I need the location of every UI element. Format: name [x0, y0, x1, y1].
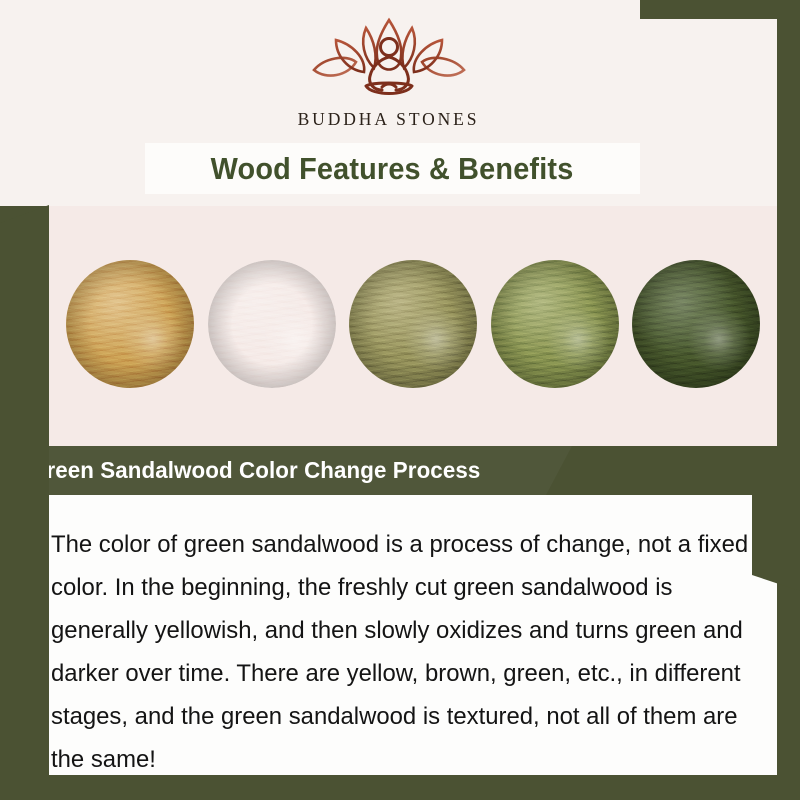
section-title: Green Sandalwood Color Change Process	[29, 457, 480, 484]
frame-bottom-bar	[0, 775, 800, 800]
section-header-banner: Green Sandalwood Color Change Process	[0, 446, 572, 495]
body-paragraph: The color of green sandalwood is a proce…	[51, 523, 753, 781]
frame-right-tab	[752, 495, 800, 591]
bead-shading	[208, 260, 336, 388]
bead-row	[49, 206, 777, 446]
page-title-banner: Wood Features & Benefits	[145, 143, 640, 194]
wood-bead-stage-4	[491, 260, 619, 388]
bead-shading	[491, 260, 619, 388]
lotus-meditation-figure-icon	[294, 14, 484, 102]
bead-shading	[632, 260, 760, 388]
frame-right-bar	[777, 0, 800, 800]
bead-shading	[66, 260, 194, 388]
infographic-canvas: BUDDHA STONES Wood Features & Benefits	[0, 0, 800, 800]
header-panel: BUDDHA STONES Wood Features & Benefits	[0, 0, 777, 206]
frame-top-bar	[640, 0, 800, 19]
bead-shading	[349, 260, 477, 388]
page-title: Wood Features & Benefits	[211, 151, 574, 187]
brand-logo-block: BUDDHA STONES	[0, 14, 777, 130]
wood-bead-stage-2	[208, 260, 336, 388]
wood-bead-stage-3	[349, 260, 477, 388]
body-panel: The color of green sandalwood is a proce…	[49, 495, 800, 775]
frame-left-bar	[0, 205, 49, 725]
wood-bead-stage-1	[66, 260, 194, 388]
bead-swatch-panel	[49, 206, 777, 446]
wood-bead-stage-5	[632, 260, 760, 388]
brand-name: BUDDHA STONES	[0, 109, 777, 130]
